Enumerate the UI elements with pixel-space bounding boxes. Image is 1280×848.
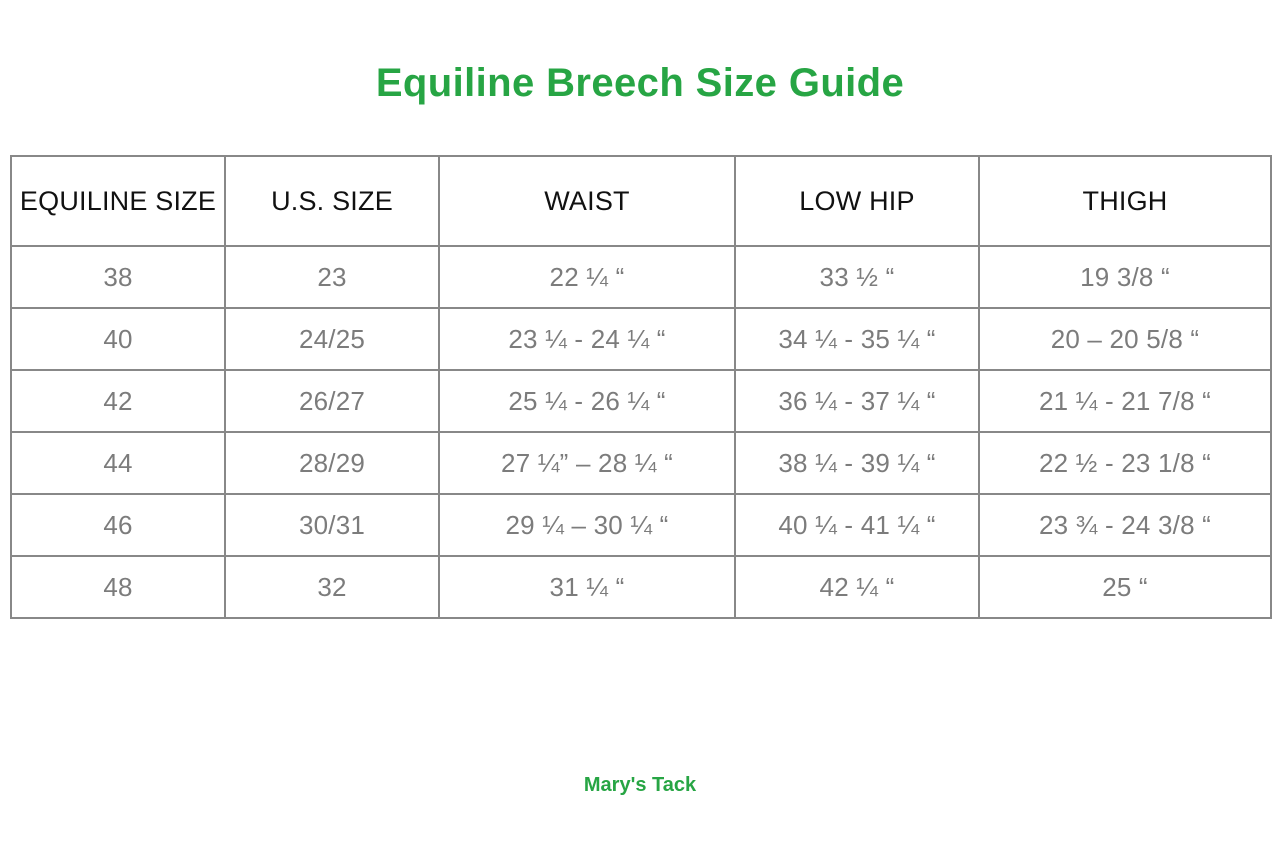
table-header: EQUILINE SIZE U.S. SIZE WAIST LOW HIP TH… (11, 156, 1271, 246)
cell-thigh: 23 ¾ - 24 3/8 “ (979, 494, 1271, 556)
cell-equiline-size: 44 (11, 432, 225, 494)
cell-us-size: 26/27 (225, 370, 439, 432)
cell-thigh: 20 – 20 5/8 “ (979, 308, 1271, 370)
cell-equiline-size: 38 (11, 246, 225, 308)
column-header-low-hip: LOW HIP (735, 156, 979, 246)
size-chart-table: EQUILINE SIZE U.S. SIZE WAIST LOW HIP TH… (10, 155, 1272, 619)
cell-us-size: 28/29 (225, 432, 439, 494)
table-row: 48 32 31 ¼ “ 42 ¼ “ 25 “ (11, 556, 1271, 618)
cell-low-hip: 42 ¼ “ (735, 556, 979, 618)
cell-us-size: 23 (225, 246, 439, 308)
table-header-row: EQUILINE SIZE U.S. SIZE WAIST LOW HIP TH… (11, 156, 1271, 246)
cell-low-hip: 40 ¼ - 41 ¼ “ (735, 494, 979, 556)
cell-low-hip: 33 ½ “ (735, 246, 979, 308)
cell-us-size: 24/25 (225, 308, 439, 370)
cell-equiline-size: 40 (11, 308, 225, 370)
column-header-thigh: THIGH (979, 156, 1271, 246)
column-header-equiline-size: EQUILINE SIZE (11, 156, 225, 246)
size-guide-page: Equiline Breech Size Guide EQUILINE SIZE… (0, 0, 1280, 848)
cell-equiline-size: 46 (11, 494, 225, 556)
cell-thigh: 22 ½ - 23 1/8 “ (979, 432, 1271, 494)
cell-waist: 25 ¼ - 26 ¼ “ (439, 370, 735, 432)
table-row: 46 30/31 29 ¼ – 30 ¼ “ 40 ¼ - 41 ¼ “ 23 … (11, 494, 1271, 556)
table-row: 38 23 22 ¼ “ 33 ½ “ 19 3/8 “ (11, 246, 1271, 308)
column-header-waist: WAIST (439, 156, 735, 246)
cell-us-size: 32 (225, 556, 439, 618)
column-header-us-size: U.S. SIZE (225, 156, 439, 246)
cell-low-hip: 38 ¼ - 39 ¼ “ (735, 432, 979, 494)
cell-low-hip: 36 ¼ - 37 ¼ “ (735, 370, 979, 432)
table-row: 40 24/25 23 ¼ - 24 ¼ “ 34 ¼ - 35 ¼ “ 20 … (11, 308, 1271, 370)
cell-waist: 23 ¼ - 24 ¼ “ (439, 308, 735, 370)
cell-waist: 27 ¼” – 28 ¼ “ (439, 432, 735, 494)
cell-thigh: 19 3/8 “ (979, 246, 1271, 308)
cell-waist: 29 ¼ – 30 ¼ “ (439, 494, 735, 556)
cell-us-size: 30/31 (225, 494, 439, 556)
cell-waist: 22 ¼ “ (439, 246, 735, 308)
footer-brand: Mary's Tack (0, 772, 1280, 798)
cell-thigh: 21 ¼ - 21 7/8 “ (979, 370, 1271, 432)
table-body: 38 23 22 ¼ “ 33 ½ “ 19 3/8 “ 40 24/25 23… (11, 246, 1271, 618)
cell-waist: 31 ¼ “ (439, 556, 735, 618)
cell-low-hip: 34 ¼ - 35 ¼ “ (735, 308, 979, 370)
size-table-container: EQUILINE SIZE U.S. SIZE WAIST LOW HIP TH… (10, 155, 1270, 619)
cell-thigh: 25 “ (979, 556, 1271, 618)
page-title: Equiline Breech Size Guide (0, 59, 1280, 107)
cell-equiline-size: 42 (11, 370, 225, 432)
cell-equiline-size: 48 (11, 556, 225, 618)
table-row: 44 28/29 27 ¼” – 28 ¼ “ 38 ¼ - 39 ¼ “ 22… (11, 432, 1271, 494)
table-row: 42 26/27 25 ¼ - 26 ¼ “ 36 ¼ - 37 ¼ “ 21 … (11, 370, 1271, 432)
